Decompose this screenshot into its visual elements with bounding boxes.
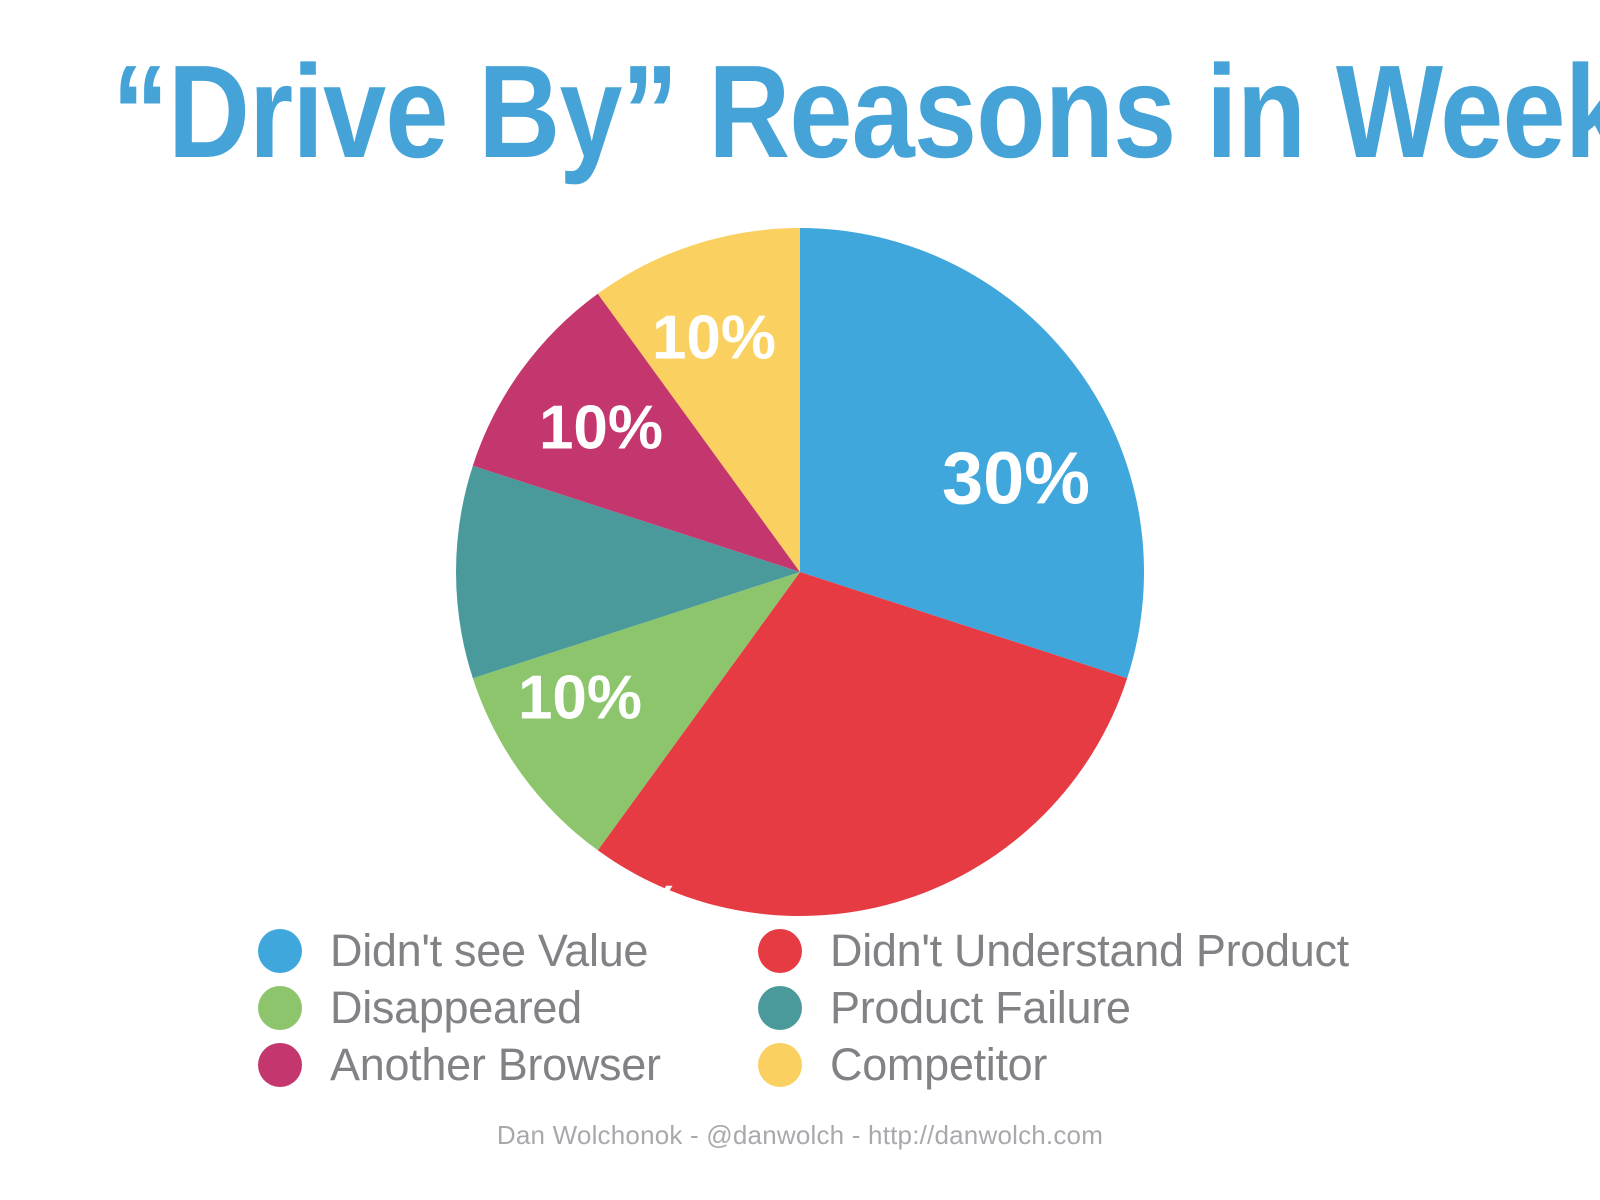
legend-swatch-circle-icon <box>258 1043 302 1087</box>
legend-swatch-circle-icon <box>758 929 802 973</box>
page-title: “Drive By” Reasons in Week One <box>112 46 1488 178</box>
chart-legend: Didn't see Value Didn't Understand Produ… <box>258 922 1378 1093</box>
legend-label: Another Browser <box>330 1039 661 1091</box>
legend-label: Product Failure <box>830 982 1131 1034</box>
pie-label-disappeared: 10% <box>559 874 683 917</box>
legend-label: Didn't see Value <box>330 925 648 977</box>
legend-item-didnt-see-value[interactable]: Didn't see Value <box>258 922 758 979</box>
legend-swatch-circle-icon <box>258 929 302 973</box>
legend-item-another-browser[interactable]: Another Browser <box>258 1036 758 1093</box>
legend-item-didnt-understand-product[interactable]: Didn't Understand Product <box>758 922 1378 979</box>
legend-swatch-circle-icon <box>258 986 302 1030</box>
pie-chart-svg: 30% 30% 10% 10% 10% 10% <box>456 228 1144 916</box>
legend-label: Disappeared <box>330 982 582 1034</box>
pie-slices <box>456 228 1144 916</box>
legend-item-competitor[interactable]: Competitor <box>758 1036 1378 1093</box>
legend-label: Didn't Understand Product <box>830 925 1349 977</box>
footer-credit: Dan Wolchonok - @danwolch - http://danwo… <box>0 1120 1600 1151</box>
legend-label: Competitor <box>830 1039 1047 1091</box>
pie-label-didnt-see-value: 30% <box>942 437 1090 520</box>
legend-swatch-circle-icon <box>758 986 802 1030</box>
legend-swatch-circle-icon <box>758 1043 802 1087</box>
pie-label-product-failure: 10% <box>518 664 642 733</box>
pie-label-competitor: 10% <box>652 304 776 373</box>
legend-item-product-failure[interactable]: Product Failure <box>758 979 1378 1036</box>
slide-canvas: “Drive By” Reasons in Week One 30% 30% 1… <box>0 0 1600 1200</box>
pie-chart: 30% 30% 10% 10% 10% 10% <box>456 228 1144 916</box>
pie-label-another-browser: 10% <box>539 394 663 463</box>
legend-item-disappeared[interactable]: Disappeared <box>258 979 758 1036</box>
